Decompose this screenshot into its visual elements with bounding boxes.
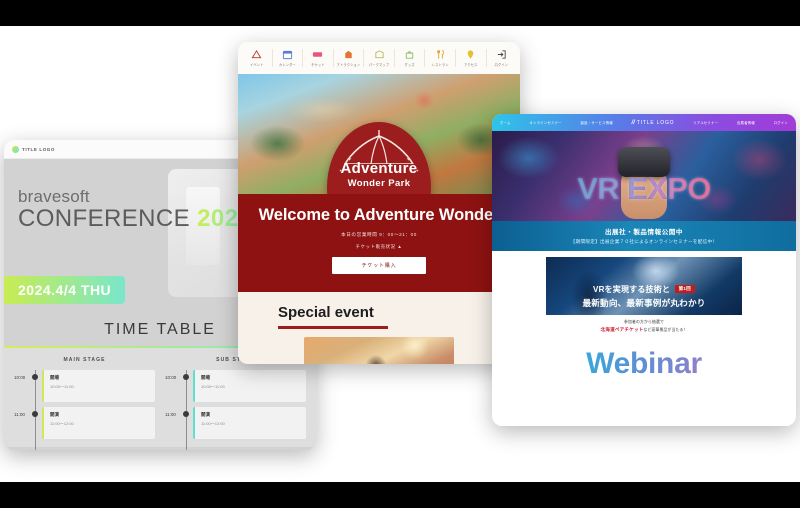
row-time: 11:00 [14,407,28,417]
leaf-icon [12,146,19,153]
timetable-row[interactable]: 11:00 開演 11:00〜12:00 [14,407,155,439]
vr-announcement-band: 出展社・製品情報公開中 【期間限定】出展企業７０社によるオンラインセミナーを配信… [492,221,796,251]
park-welcome-section: Welcome to Adventure Wonder 本日の営業時間 9：00… [238,194,520,292]
park-nav-item-login[interactable]: ログイン [487,49,517,67]
park-ticket-purchase-button[interactable]: チケット購入 [332,257,427,274]
session-span: 10:00〜11:00 [50,384,149,390]
slide-canvas: TITLE LOGO HOME bravesoft CONFERENCE 202… [0,0,800,508]
vr-note-suffix: など豪華景品が当たる！ [644,328,688,332]
special-event-image[interactable] [304,337,454,364]
vr-logo-label: TITLE LOGO [637,120,674,126]
row-time: 10:00 [165,370,179,380]
ticket-icon [312,49,323,60]
park-nav-item-ticket[interactable]: チケット [303,49,334,67]
session-card[interactable]: 開場 10:00〜11:00 [193,370,306,402]
vr-webinar-title: Webinar [586,347,702,380]
vr-seminar-badge: 第1回 [675,285,695,293]
vr-expo-site-card[interactable]: ホーム オンラインセミナー 製品・サービス情報 // TITLE LOGO リア… [492,114,796,426]
park-nav-item-event[interactable]: イベント [242,49,273,67]
park-logo-line2: Wonder Park [348,178,411,189]
session-card[interactable]: 開場 10:00〜11:00 [42,370,155,402]
session-title: 開演 [201,412,300,418]
session-card[interactable]: 開演 11:00〜12:00 [193,407,306,439]
park-nav-label: カレンダー [279,62,296,67]
row-time: 11:00 [165,407,179,417]
park-hours: 本日の営業時間 9：00〜21：00 [238,232,520,238]
park-nav-label: アトラクション [337,62,361,67]
vr-logo[interactable]: // TITLE LOGO [632,120,675,126]
conference-logo[interactable]: TITLE LOGO [12,146,55,153]
park-welcome-title: Welcome to Adventure Wonder [238,206,520,225]
session-title: 開演 [50,412,149,418]
timeline-dot-icon [32,374,38,380]
timetable-row[interactable]: 11:00 開演 11:00〜12:00 [165,407,306,439]
vr-hero-image: VR EXPO [492,131,796,221]
map-icon [374,49,385,60]
park-nav-item-access[interactable]: アクセス [456,49,487,67]
login-icon [496,49,507,60]
vr-note-line1: 参加者の方から抽選で [492,320,796,325]
park-logo: ✦ ✦ ✦ ✦ Adventure Wonder Park [327,122,431,194]
vr-note-line2-wrap: 北海道ペアチケットなど豪華景品が当たる！ [492,327,796,333]
timeline-dot-icon [32,411,38,417]
vr-webinar-section: Webinar [492,347,796,381]
vr-band-line2: 【期間限定】出展企業７０社によるオンラインセミナーを配信中！ [492,239,796,245]
park-special-event-section: Special event [238,292,520,364]
calendar-icon [282,49,293,60]
park-nav-label: イベント [250,62,264,67]
session-span: 11:00〜12:00 [50,421,149,427]
timetable-row[interactable]: 10:00 開場 10:00〜11:00 [165,370,306,402]
timeline-dot-icon [183,411,189,417]
vr-band-line1: 出展社・製品情報公開中 [492,226,796,236]
park-logo-line1: Adventure [341,160,418,177]
session-card[interactable]: 開演 11:00〜12:00 [42,407,155,439]
special-event-underline [278,326,388,329]
vr-nav-item-home[interactable]: ホーム [500,120,511,125]
row-time: 10:00 [14,370,28,380]
vr-seminar-line1-wrap: VRを実現する技術と 第1回 [546,284,742,295]
park-nav-item-restaurant[interactable]: レストラン [425,49,456,67]
goods-icon [404,49,415,60]
park-nav-label: ログイン [495,62,509,67]
timeline-dot-icon [183,374,189,380]
park-nav-item-attraction[interactable]: アトラクション [334,49,365,67]
letterbox-bottom [0,482,800,508]
vr-nav-item-online-seminar[interactable]: オンラインセミナー [529,120,561,125]
park-hero-image: ✦ ✦ ✦ ✦ Adventure Wonder Park [238,74,520,194]
park-nav-label: レストラン [432,62,449,67]
restaurant-icon [435,49,446,60]
pin-icon [465,49,476,60]
park-navbar: イベント カレンダー チケット アトラクション パークマップ グッズ [238,42,520,74]
vr-nav-item-login[interactable]: ログイン [774,120,788,125]
special-event-title: Special event [278,304,374,321]
vr-expo-title: VR EXPO [577,171,711,207]
vr-navbar: ホーム オンラインセミナー 製品・サービス情報 // TITLE LOGO リア… [492,114,796,131]
timetable-row[interactable]: 10:00 開場 10:00〜11:00 [14,370,155,402]
tent-icon [251,49,262,60]
vr-seminar-banner[interactable]: VRを実現する技術と 第1回 最新動向、最新事例が丸わかり [546,257,742,315]
vr-nav-item-products[interactable]: 製品・サービス情報 [580,120,612,125]
vr-note-highlight: 北海道ペアチケット [600,327,643,332]
session-span: 11:00〜12:00 [201,421,300,427]
conference-logo-label: TITLE LOGO [22,147,55,152]
letterbox-top [0,0,800,26]
stage-name: MAIN STAGE [14,357,155,363]
park-nav-label: アクセス [464,62,477,67]
vr-seminar-text: VRを実現する技術と 第1回 最新動向、最新事例が丸わかり [546,284,742,309]
conference-brand: bravesoft [18,187,252,207]
vr-nav-item-real-seminar[interactable]: リアルセミナー [693,120,718,125]
session-title: 開場 [201,375,300,381]
park-nav-label: パークマップ [369,62,389,67]
park-nav-label: グッズ [405,62,415,67]
conference-title-text: CONFERENCE [18,205,190,232]
stage-column-main: MAIN STAGE 10:00 開場 10:00〜11:00 11:00 開演… [14,357,155,447]
attraction-icon [343,49,354,60]
slash-logo-icon: // [632,120,635,126]
session-title: 開場 [50,375,149,381]
park-nav-item-goods[interactable]: グッズ [395,49,426,67]
circus-tent-icon [343,130,415,164]
conference-title: CONFERENCE 2024 [18,205,252,233]
session-span: 10:00〜11:00 [201,384,300,390]
vr-campaign-note: 参加者の方から抽選で 北海道ペアチケットなど豪華景品が当たる！ [492,320,796,333]
conference-date-badge: 2024.4/4 THU [4,276,125,304]
park-ticket-status[interactable]: チケット販売状況 ▲ [238,244,520,250]
adventure-park-site-card[interactable]: イベント カレンダー チケット アトラクション パークマップ グッズ [238,42,520,364]
vr-seminar-line2: 最新動向、最新事例が丸わかり [546,297,742,309]
park-nav-label: チケット [311,62,325,67]
vr-nav-item-exhibitors[interactable]: 出展者情報 [737,120,755,125]
stage-column-sub: SUB STAGE 10:00 開場 10:00〜11:00 11:00 開演 … [165,357,306,447]
conference-title-group: bravesoft CONFERENCE 2024 [18,187,252,233]
park-nav-item-calendar[interactable]: カレンダー [273,49,304,67]
park-nav-item-map[interactable]: パークマップ [364,49,395,67]
vr-seminar-line1: VRを実現する技術と [593,285,670,294]
